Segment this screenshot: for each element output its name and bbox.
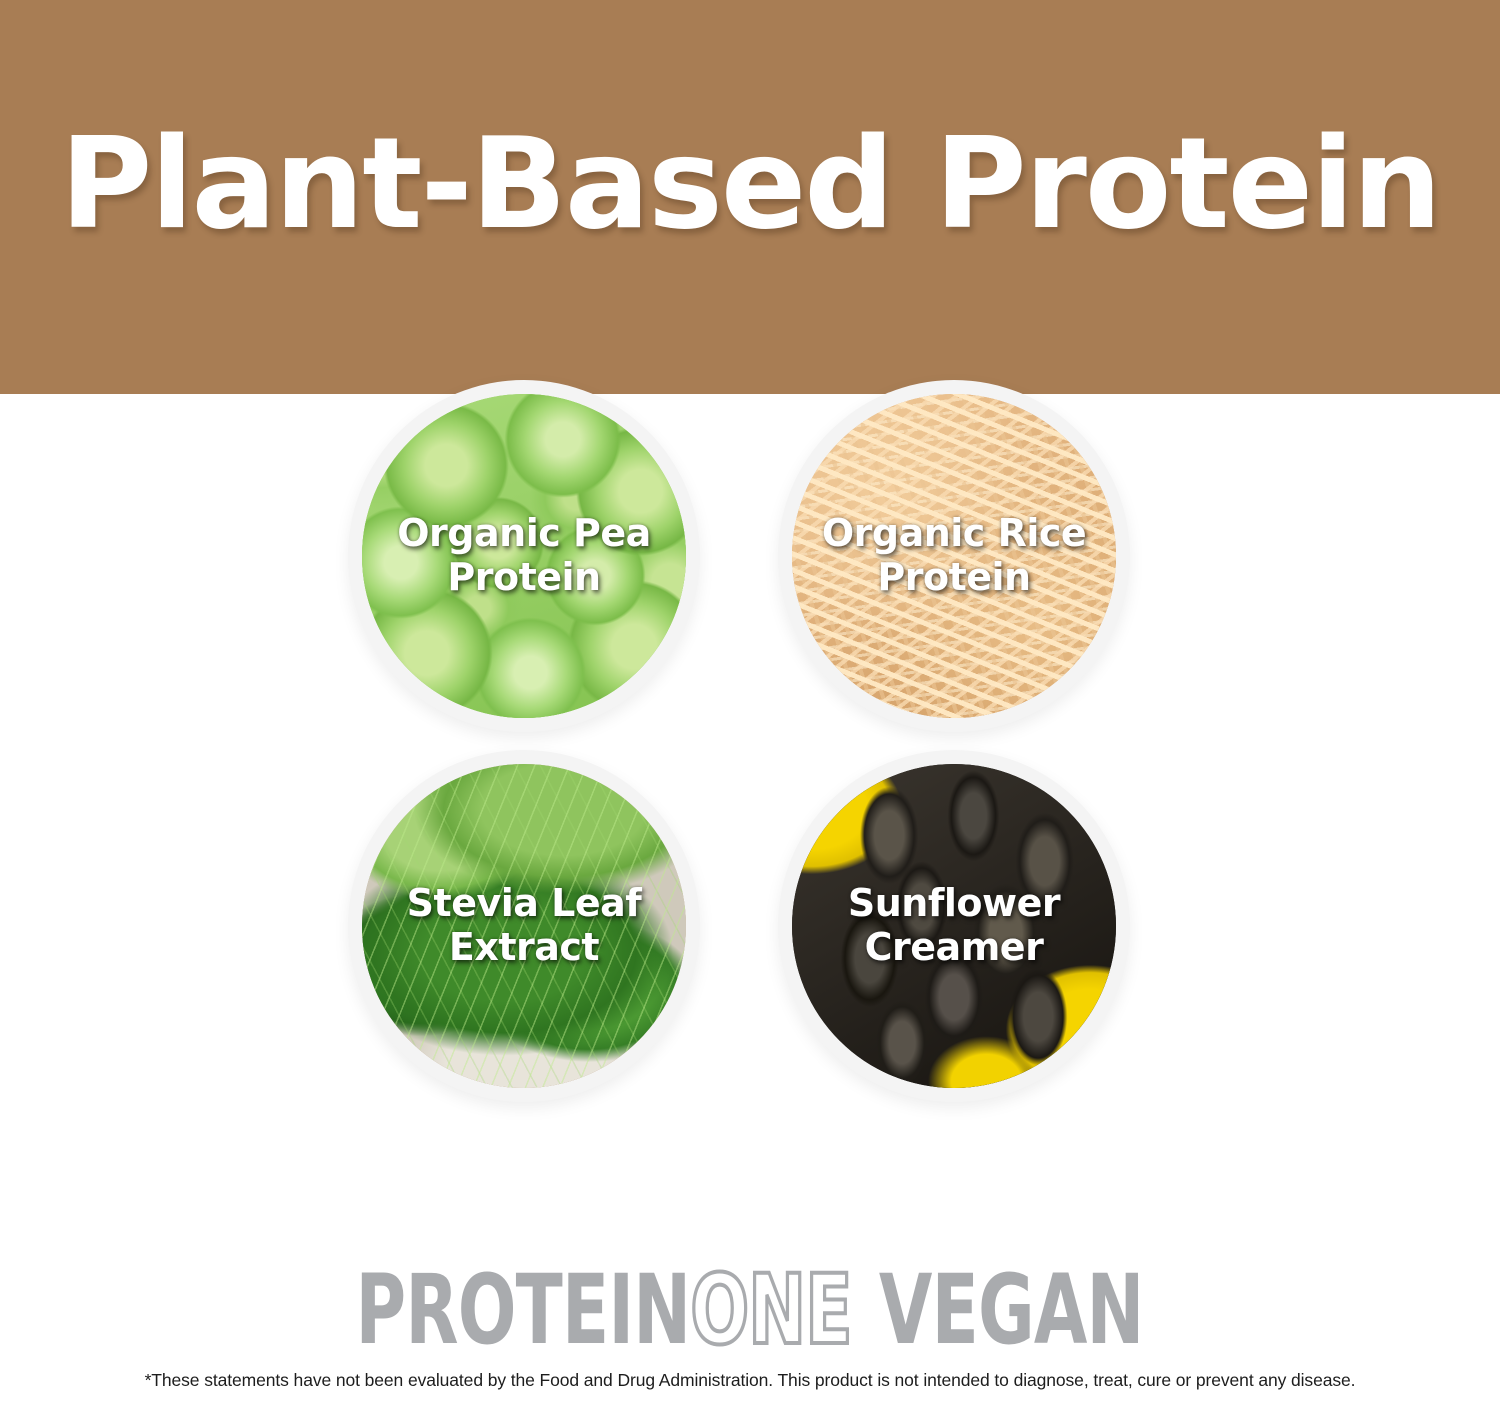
label-line-2: Extract bbox=[449, 925, 599, 969]
brand-logo-text: PROTEINONEVEGAN bbox=[356, 1262, 1144, 1358]
ingredient-card-organic-rice-protein[interactable]: Organic Rice Protein bbox=[778, 380, 1130, 732]
sunflower-seeds-image: Sunflower Creamer bbox=[792, 764, 1116, 1088]
brand-word-one: ONE bbox=[691, 1262, 852, 1358]
label-line-1: Sunflower bbox=[848, 881, 1060, 925]
rice-image: Organic Rice Protein bbox=[792, 394, 1116, 718]
label-line-2: Creamer bbox=[865, 925, 1044, 969]
peas-image: Organic Pea Protein bbox=[362, 394, 686, 718]
ingredient-card-organic-pea-protein[interactable]: Organic Pea Protein bbox=[348, 380, 700, 732]
ingredient-label-stevia-leaf-extract: Stevia Leaf Extract bbox=[399, 882, 650, 969]
label-line-1: Organic Rice bbox=[822, 511, 1086, 555]
brand-word-protein: PROTEIN bbox=[356, 1262, 691, 1358]
stevia-image: Stevia Leaf Extract bbox=[362, 764, 686, 1088]
page-title: Plant-Based Protein bbox=[60, 121, 1440, 247]
ingredient-grid: Organic Pea Protein Organic Rice Protein… bbox=[0, 394, 1500, 1154]
ingredient-card-stevia-leaf-extract[interactable]: Stevia Leaf Extract bbox=[348, 750, 700, 1102]
label-line-1: Organic Pea bbox=[397, 511, 651, 555]
ingredient-label-organic-pea-protein: Organic Pea Protein bbox=[389, 512, 659, 599]
label-line-2: Protein bbox=[877, 555, 1030, 599]
fda-disclaimer: *These statements have not been evaluate… bbox=[0, 1370, 1500, 1391]
label-line-2: Protein bbox=[447, 555, 600, 599]
ingredient-label-organic-rice-protein: Organic Rice Protein bbox=[814, 512, 1094, 599]
ingredient-label-sunflower-creamer: Sunflower Creamer bbox=[840, 882, 1068, 969]
label-line-1: Stevia Leaf bbox=[407, 881, 642, 925]
brand-word-vegan: VEGAN bbox=[879, 1262, 1144, 1358]
header-banner: Plant-Based Protein bbox=[0, 0, 1500, 394]
ingredient-card-sunflower-creamer[interactable]: Sunflower Creamer bbox=[778, 750, 1130, 1102]
brand-logo: PROTEINONEVEGAN bbox=[0, 1262, 1500, 1358]
